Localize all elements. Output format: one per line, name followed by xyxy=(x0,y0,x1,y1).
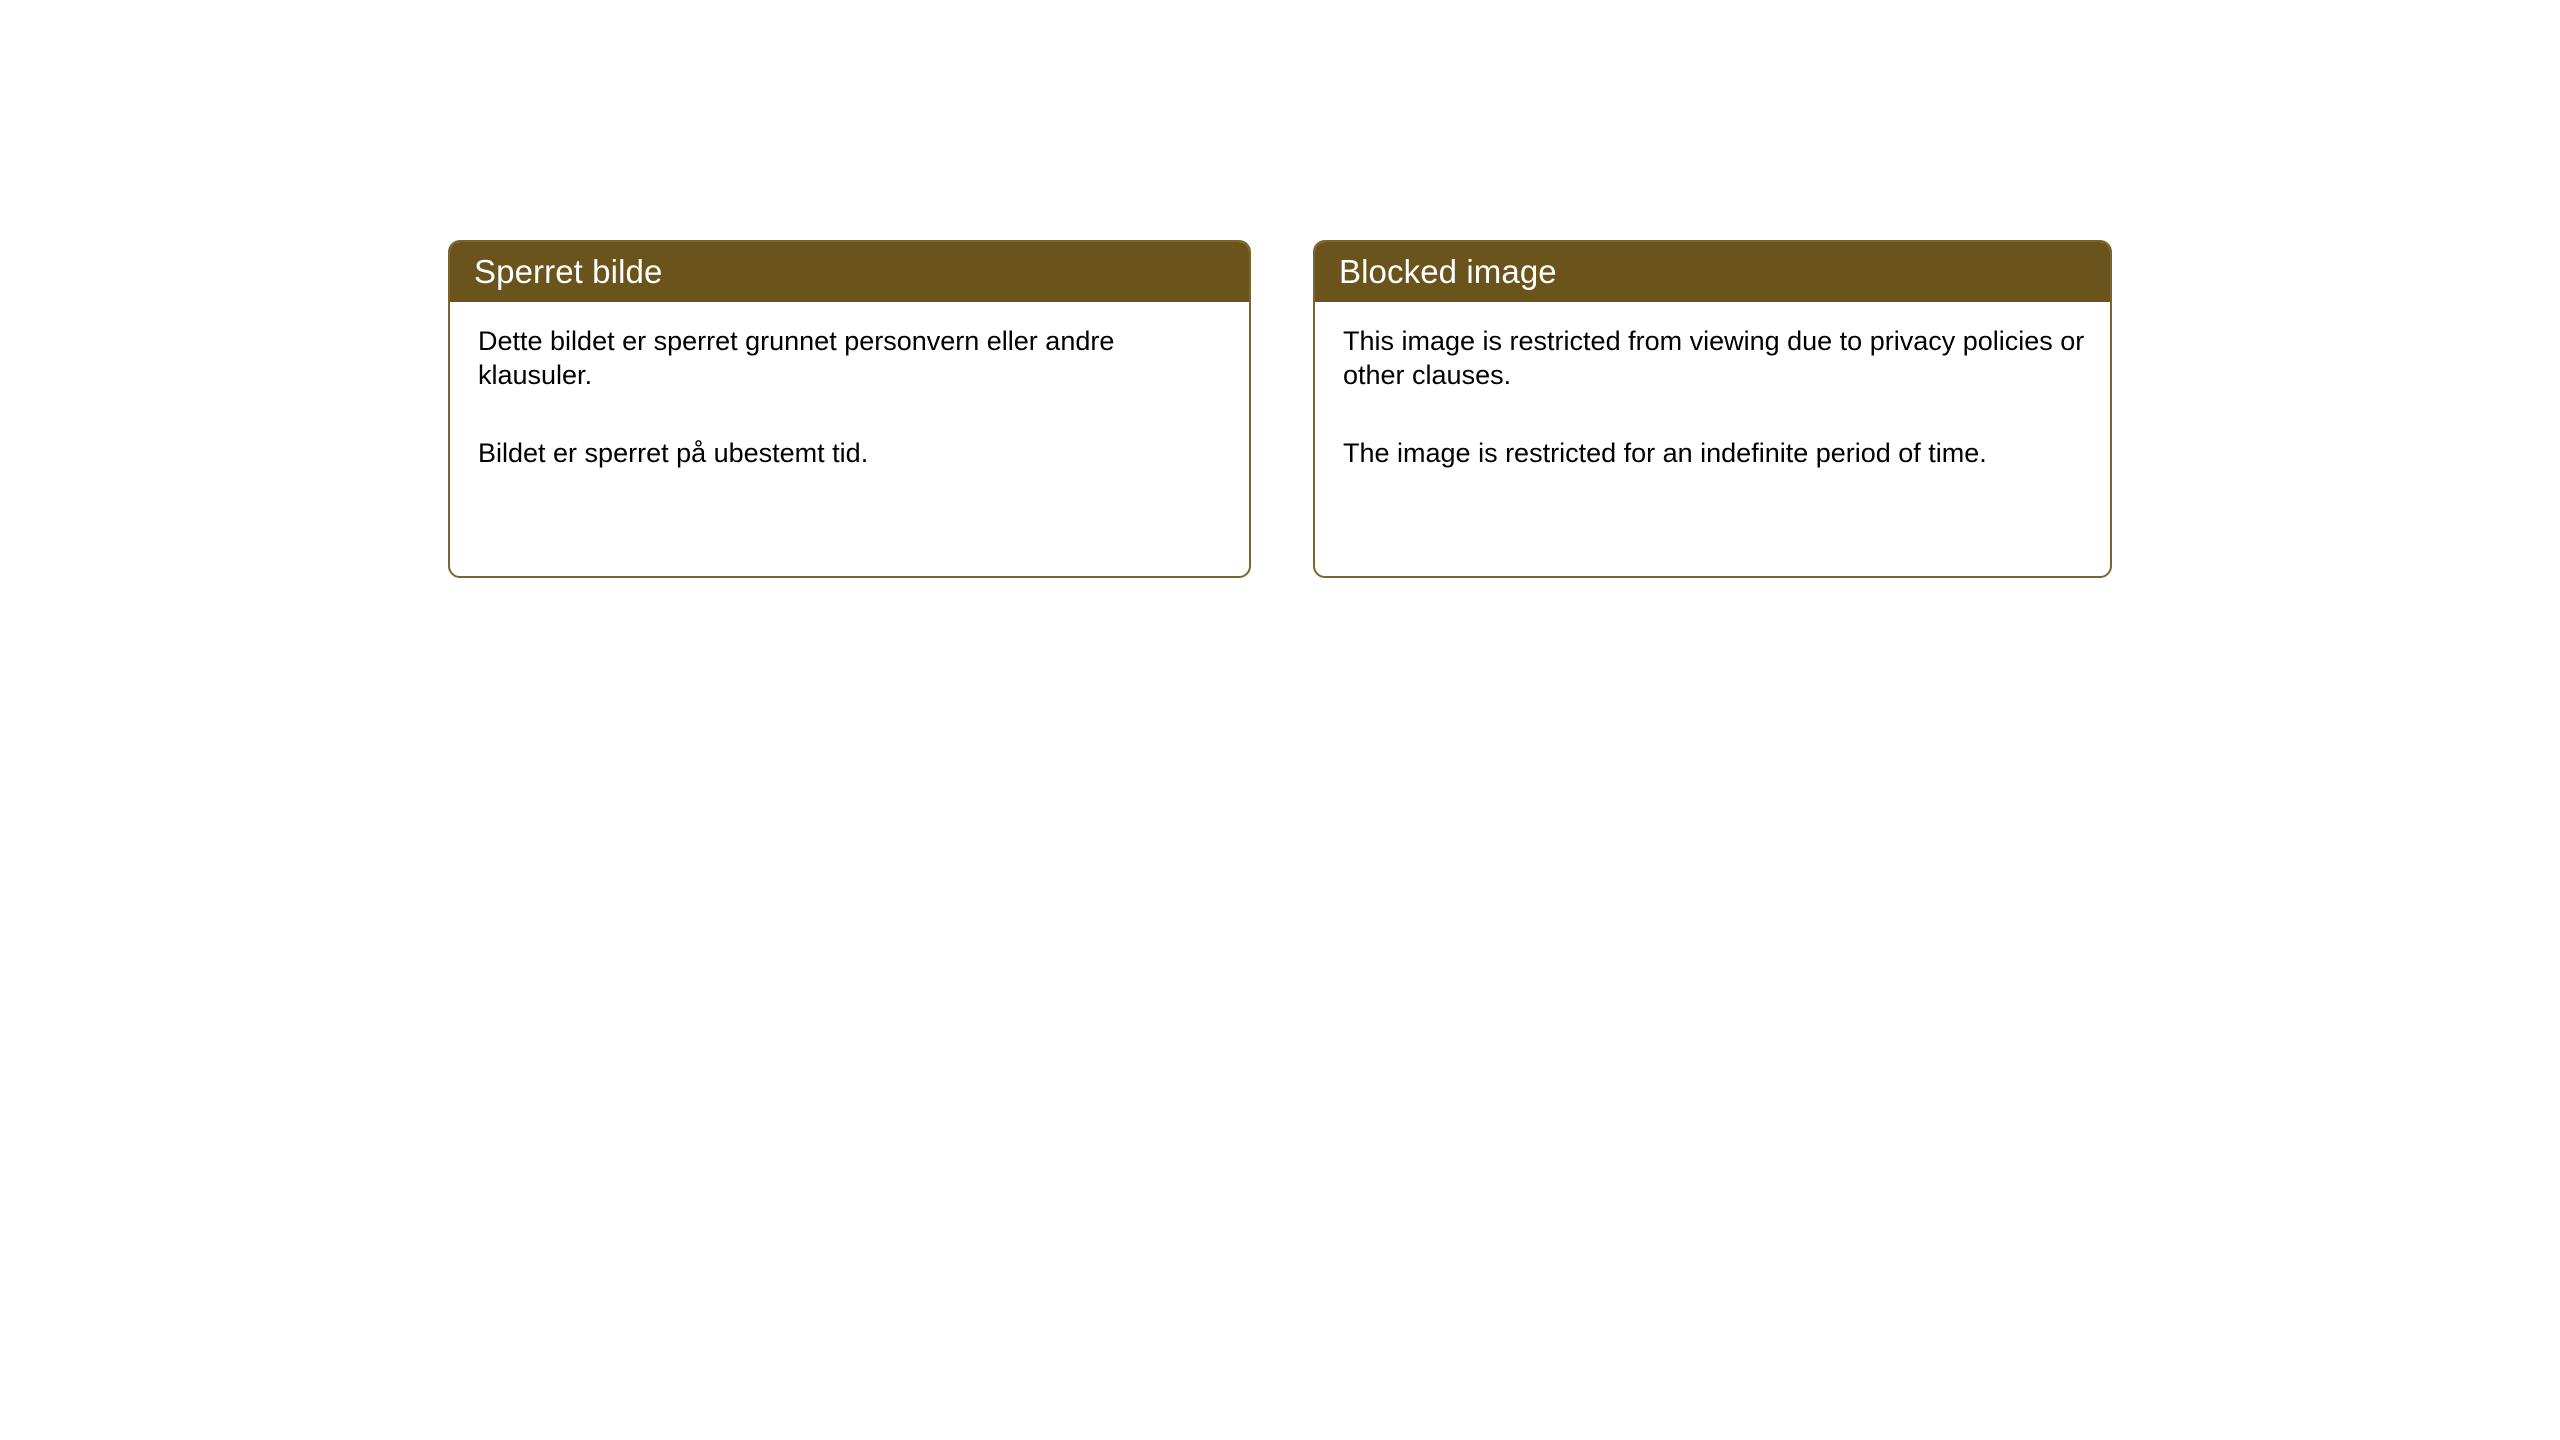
card-body-english: This image is restricted from viewing du… xyxy=(1315,302,2110,470)
card-body-norwegian: Dette bildet er sperret grunnet personve… xyxy=(450,302,1249,470)
card-header-english: Blocked image xyxy=(1313,240,2112,302)
page-canvas: Sperret bilde Dette bildet er sperret gr… xyxy=(0,0,2560,1440)
card-paragraph-secondary-english: The image is restricted for an indefinit… xyxy=(1343,436,2086,470)
card-paragraph-secondary-norwegian: Bildet er sperret på ubestemt tid. xyxy=(478,436,1225,470)
card-paragraph-primary-norwegian: Dette bildet er sperret grunnet personve… xyxy=(478,324,1225,392)
card-paragraph-primary-english: This image is restricted from viewing du… xyxy=(1343,324,2086,392)
card-title-norwegian: Sperret bilde xyxy=(474,255,662,288)
blocked-image-notice-card-english: Blocked image This image is restricted f… xyxy=(1313,240,2112,578)
card-header-norwegian: Sperret bilde xyxy=(448,240,1251,302)
blocked-image-notice-card-norwegian: Sperret bilde Dette bildet er sperret gr… xyxy=(448,240,1251,578)
card-title-english: Blocked image xyxy=(1339,255,1557,288)
